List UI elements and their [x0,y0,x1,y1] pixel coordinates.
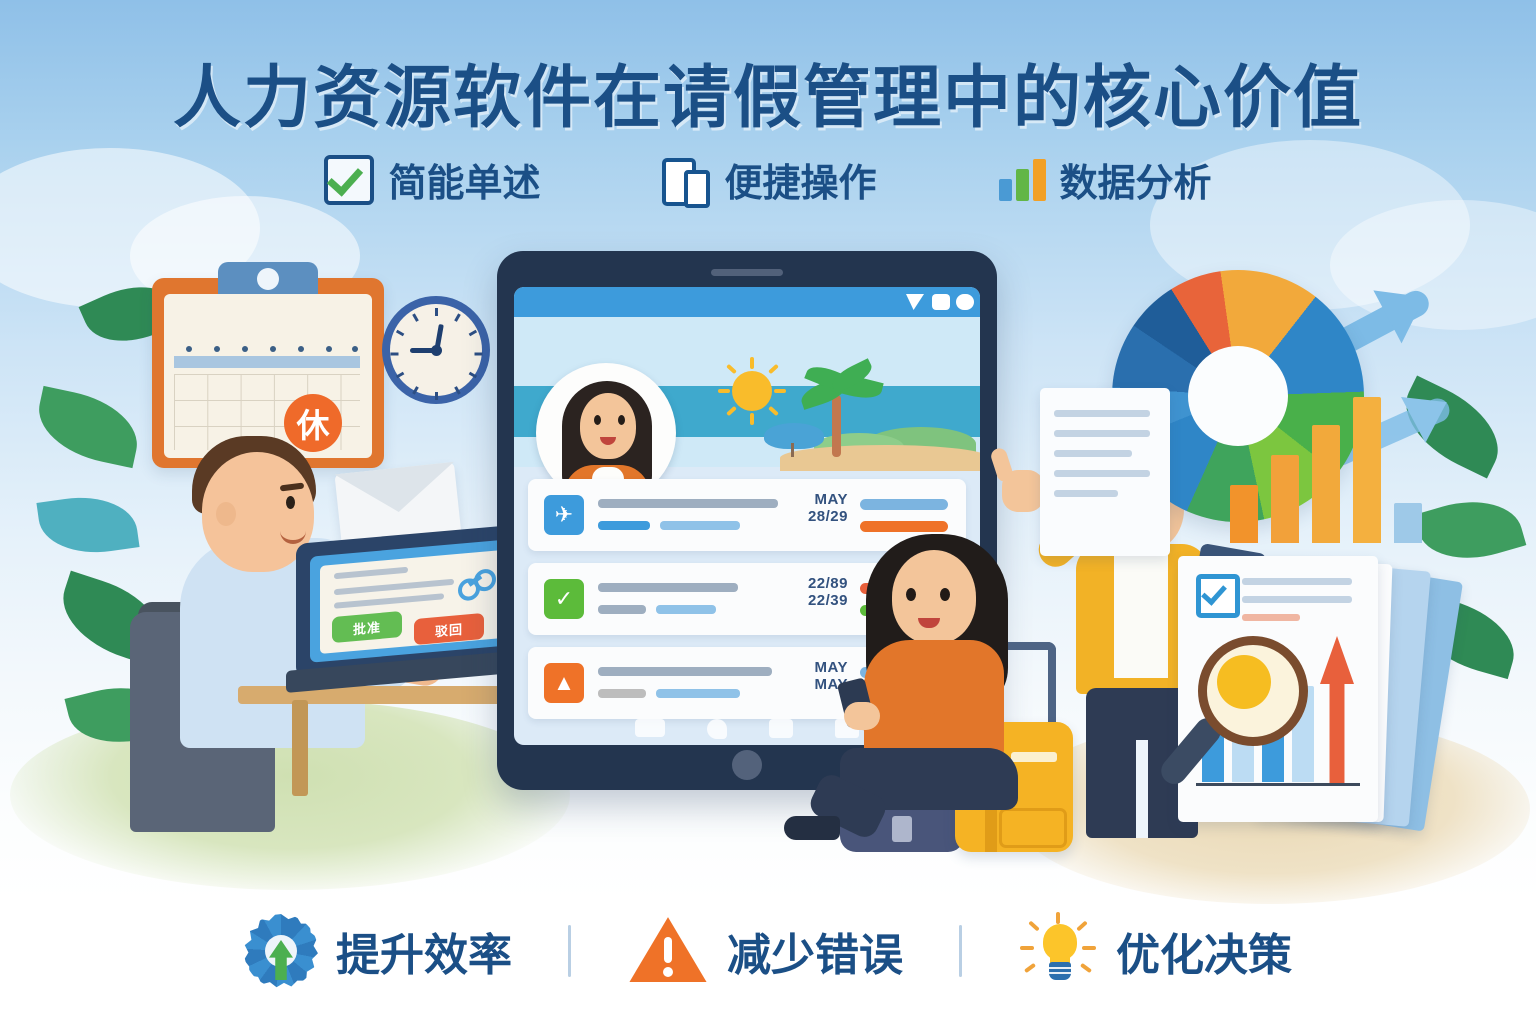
benefit-item-better-decisions[interactable]: 优化决策 [962,912,1348,990]
benefit-label: 提升效率 [336,919,512,983]
up-arrow-icon [1320,636,1354,786]
feature-row: 简能单述 便捷操作 数据分析 [0,152,1536,207]
infographic-canvas: 人力资源软件在请假管理中的核心价值 简能单述 便捷操作 数据分析 [0,0,1536,1024]
checkbox-icon [324,155,374,205]
menu-icon [956,294,974,310]
vacation-banner [514,317,980,467]
feature-label: 简能单述 [388,152,540,207]
leave-trend-bar-chart [1230,395,1440,543]
calendar-header-bar [174,356,360,368]
benefits-row: 提升效率 减少错误 优化决策 [0,912,1536,990]
island-sand [780,445,980,471]
feature-item-approval[interactable]: 简能单述 [324,152,540,207]
feature-label: 数据分析 [1060,152,1212,207]
benefit-item-efficiency[interactable]: 提升效率 [188,914,568,988]
bar-chart-icon [999,159,1046,201]
alert-icon: ▲ [544,663,584,703]
clock-icon [382,296,490,404]
person-head [892,550,976,644]
magnifier-icon [1198,636,1308,746]
battery-icon [932,294,950,310]
chat-icon[interactable] [707,719,727,739]
request-date: MAY 28/29 [756,491,848,525]
video-icon[interactable] [635,719,665,737]
lightbulb-icon [1018,912,1098,990]
laptop-device: 批准 驳回 [296,534,524,684]
gear-arrow-icon [244,914,318,988]
signal-icon [906,294,924,310]
check-icon: ✓ [544,579,584,619]
clock-face [390,304,482,396]
document-card [1040,388,1170,556]
page-title: 人力资源软件在请假管理中的核心价值 [0,42,1536,141]
feature-item-analytics[interactable]: 数据分析 [999,152,1212,207]
feature-item-mobile[interactable]: 便捷操作 [662,152,876,207]
plane-icon: ✈ [544,495,584,535]
document-check-icon [1196,574,1240,618]
tablet-home-button[interactable] [732,750,762,780]
benefit-label: 优化决策 [1116,919,1292,983]
feature-label: 便捷操作 [724,152,876,207]
link-icon [458,569,492,594]
warning-triangle-icon [627,915,709,987]
benefit-item-fewer-errors[interactable]: 减少错误 [571,915,959,987]
request-date: 22/89 22/39 [756,575,848,609]
sun-icon [732,371,772,411]
benefit-label: 减少错误 [727,919,903,983]
tablet-speaker [711,269,783,276]
request-date: MAY MAY [756,659,848,693]
status-bar [514,287,980,317]
desk-leg [292,700,308,796]
note-icon[interactable] [769,719,793,738]
palm-tree-icon [832,395,841,457]
devices-icon [662,158,710,202]
status-badge [860,499,948,510]
beach-umbrella-icon [764,423,824,449]
